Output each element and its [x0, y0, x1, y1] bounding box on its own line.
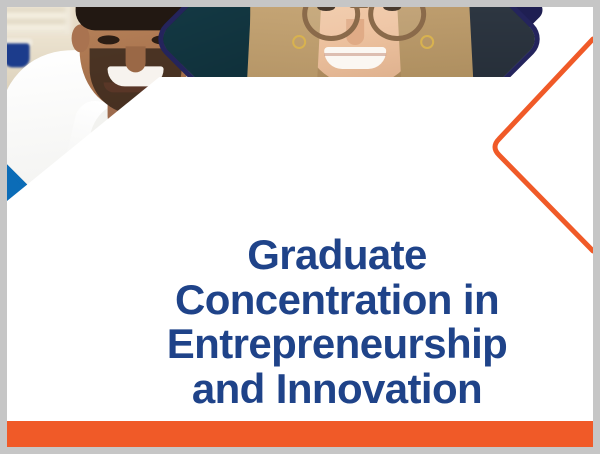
eyeglasses-bridge: [349, 7, 369, 8]
earring-right: [420, 35, 434, 49]
promo-card: Graduate Concentration in Entrepreneursh…: [7, 7, 593, 447]
lab-beaker-blue: [7, 43, 30, 67]
earring-left: [292, 35, 306, 49]
smile: [324, 47, 386, 69]
page-title: Graduate Concentration in Entrepreneursh…: [127, 233, 547, 411]
promo-frame: Graduate Concentration in Entrepreneursh…: [0, 0, 600, 454]
eye-left: [98, 35, 120, 44]
orange-accent-bar: [7, 421, 593, 447]
nose: [126, 46, 146, 72]
smile-line: [324, 53, 386, 56]
